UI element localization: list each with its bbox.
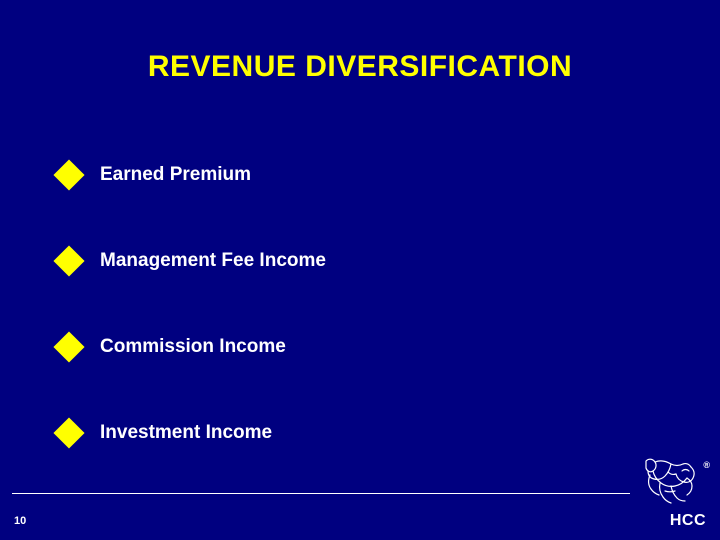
horse-and-rider-icon	[640, 455, 702, 507]
list-item-label: Management Fee Income	[100, 250, 326, 272]
page-number: 10	[14, 515, 26, 527]
page-title: REVENUE DIVERSIFICATION	[0, 50, 720, 84]
diamond-bullet-icon	[53, 159, 84, 190]
diamond-bullet-icon	[53, 417, 84, 448]
list-item: Management Fee Income	[58, 218, 678, 304]
diamond-bullet-icon	[53, 331, 84, 362]
presentation-slide: REVENUE DIVERSIFICATION Earned Premium M…	[0, 0, 720, 540]
list-item: Commission Income	[58, 304, 678, 390]
diamond-bullet-icon	[53, 245, 84, 276]
brand-name: HCC	[670, 512, 706, 530]
footer-divider	[12, 493, 630, 494]
bullet-list: Earned Premium Management Fee Income Com…	[58, 132, 678, 476]
list-item: Earned Premium	[58, 132, 678, 218]
list-item-label: Commission Income	[100, 336, 286, 358]
registered-trademark-mark: ®	[703, 460, 710, 470]
list-item: Investment Income	[58, 390, 678, 476]
list-item-label: Investment Income	[100, 422, 272, 444]
list-item-label: Earned Premium	[100, 164, 251, 186]
